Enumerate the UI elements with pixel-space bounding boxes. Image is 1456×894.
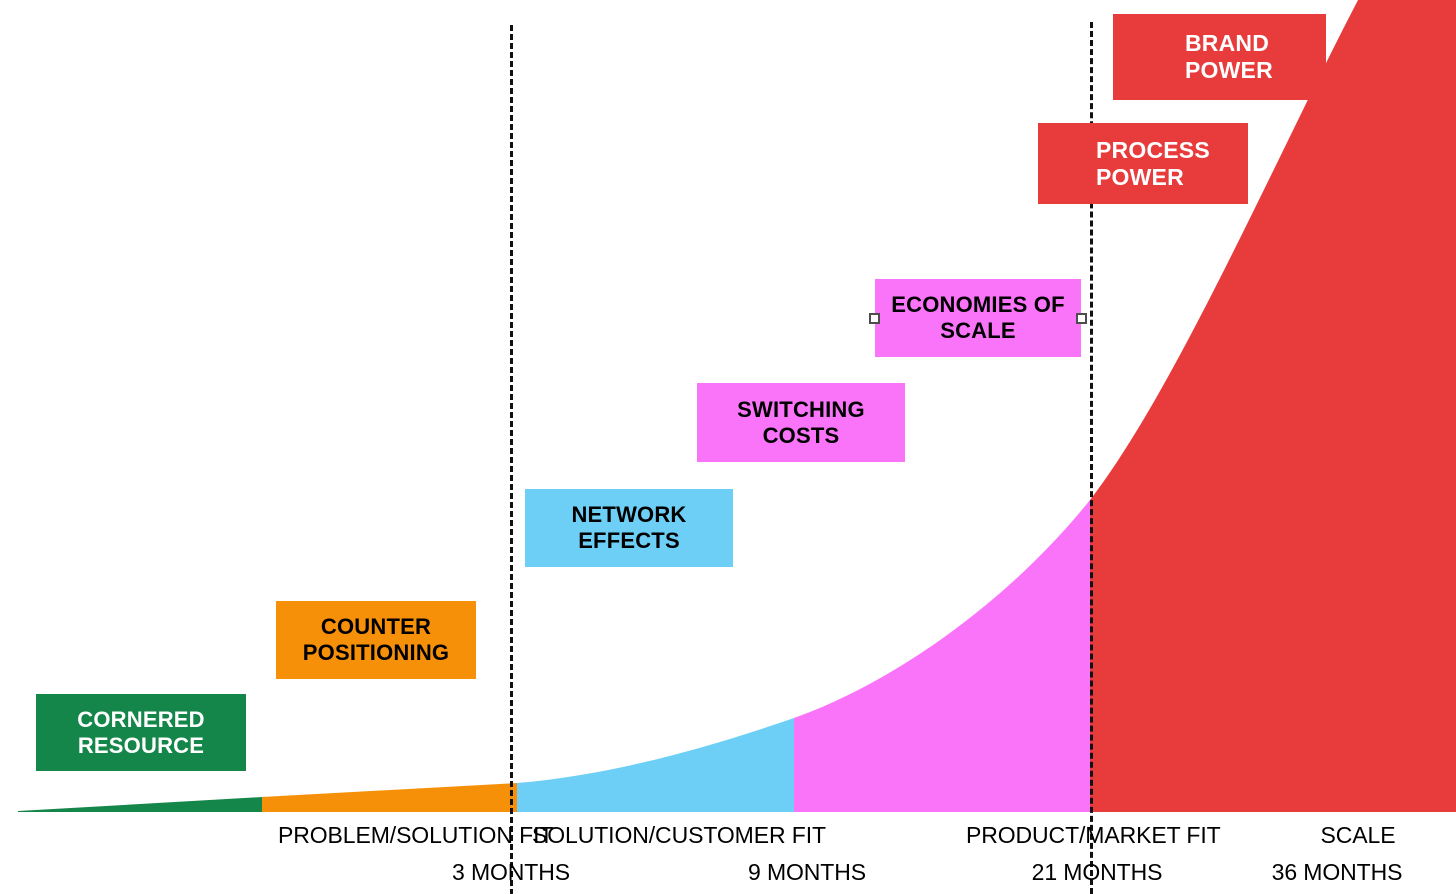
power-label-line2: SCALE [940,318,1016,344]
area-segment-green [18,797,262,812]
power-label-line1: SWITCHING [737,397,865,423]
power-label-line2: POWER [1096,164,1184,191]
area-segment-blue [517,718,794,812]
power-box-economies-of-scale[interactable]: ECONOMIES OF SCALE [875,279,1081,357]
power-label-line1: NETWORK [571,502,686,528]
area-segment-pink [794,500,1090,812]
month-label-9-months: 9 MONTHS [746,859,868,886]
phase-label-problem-solution-fit: PROBLEM/SOLUTION FIT [278,822,518,849]
phase-label-product-market-fit: PRODUCT/MARKET FIT [966,822,1206,849]
selection-handle-right[interactable] [1076,313,1087,324]
power-label-line1: BRAND [1185,30,1269,57]
power-label-line1: COUNTER [321,614,431,640]
power-label-line1: PROCESS [1096,137,1210,164]
power-box-switching-costs[interactable]: SWITCHING COSTS [697,383,905,462]
power-box-counter-positioning[interactable]: COUNTER POSITIONING [276,601,476,679]
month-label-3-months: 3 MONTHS [450,859,572,886]
power-label-line2: RESOURCE [78,733,204,759]
area-segment-red [1090,0,1456,812]
divider-3-months [510,25,513,894]
power-box-brand-power[interactable]: BRAND POWER [1113,14,1326,100]
area-segment-orange [262,783,517,812]
month-label-36-months: 36 MONTHS [1270,859,1404,886]
power-box-cornered-resource[interactable]: CORNERED RESOURCE [36,694,246,771]
month-label-21-months: 21 MONTHS [1030,859,1164,886]
power-label-line1: ECONOMIES OF [891,292,1065,318]
phase-label-solution-customer-fit: SOLUTION/CUSTOMER FIT [532,822,812,849]
power-label-line2: COSTS [763,423,840,449]
power-box-process-power[interactable]: PROCESS POWER [1038,123,1248,204]
power-label-line2: POWER [1185,57,1273,84]
power-label-line2: POSITIONING [303,640,449,666]
power-box-network-effects[interactable]: NETWORK EFFECTS [525,489,733,567]
power-label-line2: EFFECTS [578,528,680,554]
selection-handle-left[interactable] [869,313,880,324]
phase-label-scale: SCALE [1308,822,1408,849]
diagram-canvas: CORNERED RESOURCE COUNTER POSITIONING NE… [0,0,1456,894]
power-label-line1: CORNERED [77,707,205,733]
